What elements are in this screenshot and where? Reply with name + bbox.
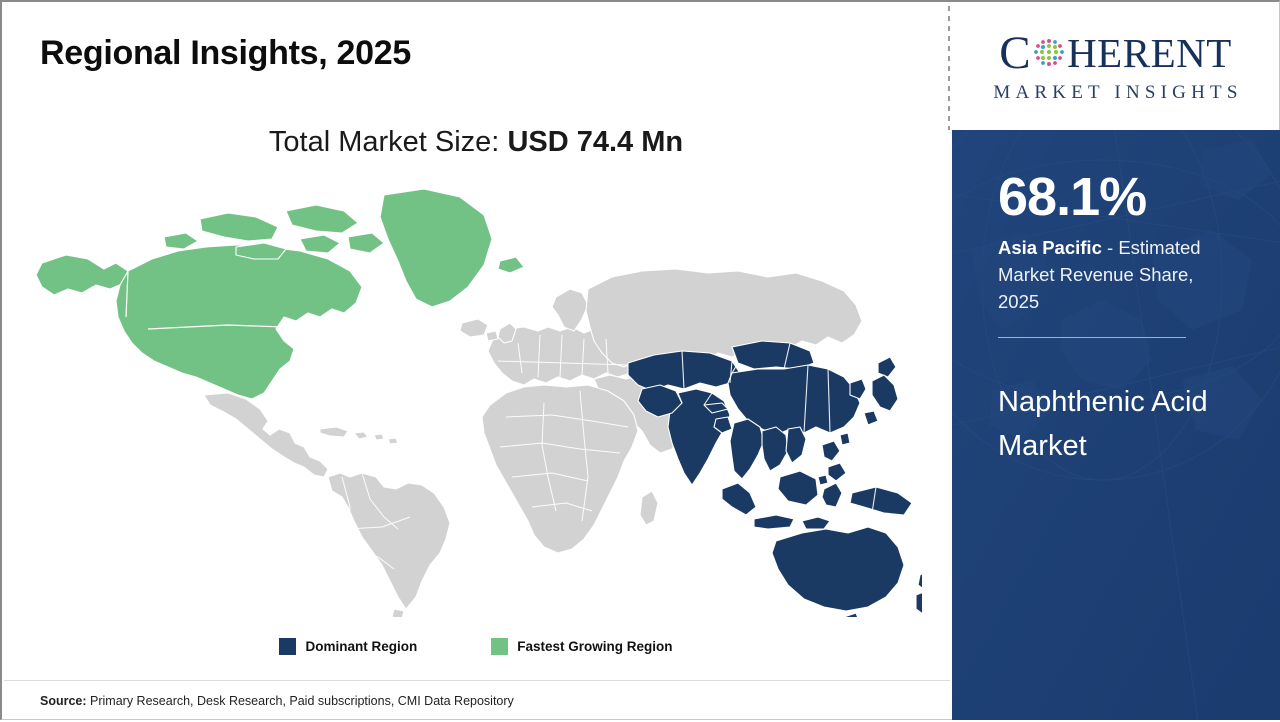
stat-description: Asia Pacific - Estimated Market Revenue …	[998, 234, 1230, 315]
source-text: Primary Research, Desk Research, Paid su…	[90, 694, 514, 708]
total-market-size: Total Market Size: USD 74.4 Mn	[2, 126, 950, 159]
map-region-asia-pacific	[628, 341, 922, 617]
legend-item-dominant: Dominant Region	[279, 638, 417, 655]
legend-label-fastest-growing: Fastest Growing Region	[517, 639, 672, 654]
source-label: Source:	[40, 694, 87, 708]
panel-divider	[998, 337, 1186, 338]
footer-divider	[4, 680, 950, 681]
logo-letter-c: C	[999, 30, 1031, 77]
brand-logo: C	[952, 4, 1280, 130]
market-name: Naphthenic Acid Market	[998, 380, 1218, 468]
square-swatch-icon	[279, 638, 296, 655]
world-map-svg	[32, 177, 922, 617]
vertical-dashed-divider	[948, 6, 950, 130]
dotted-globe-icon	[1032, 36, 1066, 70]
left-content-area: Regional Insights, 2025 Total Market Siz…	[2, 2, 950, 722]
map-region-north-america	[36, 189, 524, 399]
highlight-panel: 68.1% Asia Pacific - Estimated Market Re…	[952, 130, 1280, 720]
logo-tagline: MARKET INSIGHTS	[988, 82, 1242, 104]
panel-content: 68.1% Asia Pacific - Estimated Market Re…	[952, 130, 1280, 468]
logo-wordmark: C	[999, 30, 1232, 77]
stat-value: 68.1%	[998, 170, 1252, 224]
market-size-label: Total Market Size:	[269, 126, 499, 158]
infographic-page: Regional Insights, 2025 Total Market Siz…	[0, 0, 1280, 720]
page-title: Regional Insights, 2025	[40, 34, 411, 73]
legend-item-fastest-growing: Fastest Growing Region	[491, 638, 672, 655]
source-note: Source: Primary Research, Desk Research,…	[40, 694, 514, 708]
market-size-value: USD 74.4 Mn	[507, 126, 683, 158]
world-map	[32, 177, 922, 617]
map-legend: Dominant Region Fastest Growing Region	[2, 638, 950, 655]
square-swatch-icon	[491, 638, 508, 655]
stat-region: Asia Pacific	[998, 237, 1102, 258]
logo-letters-herent: HERENT	[1067, 33, 1232, 74]
legend-label-dominant: Dominant Region	[305, 639, 417, 654]
